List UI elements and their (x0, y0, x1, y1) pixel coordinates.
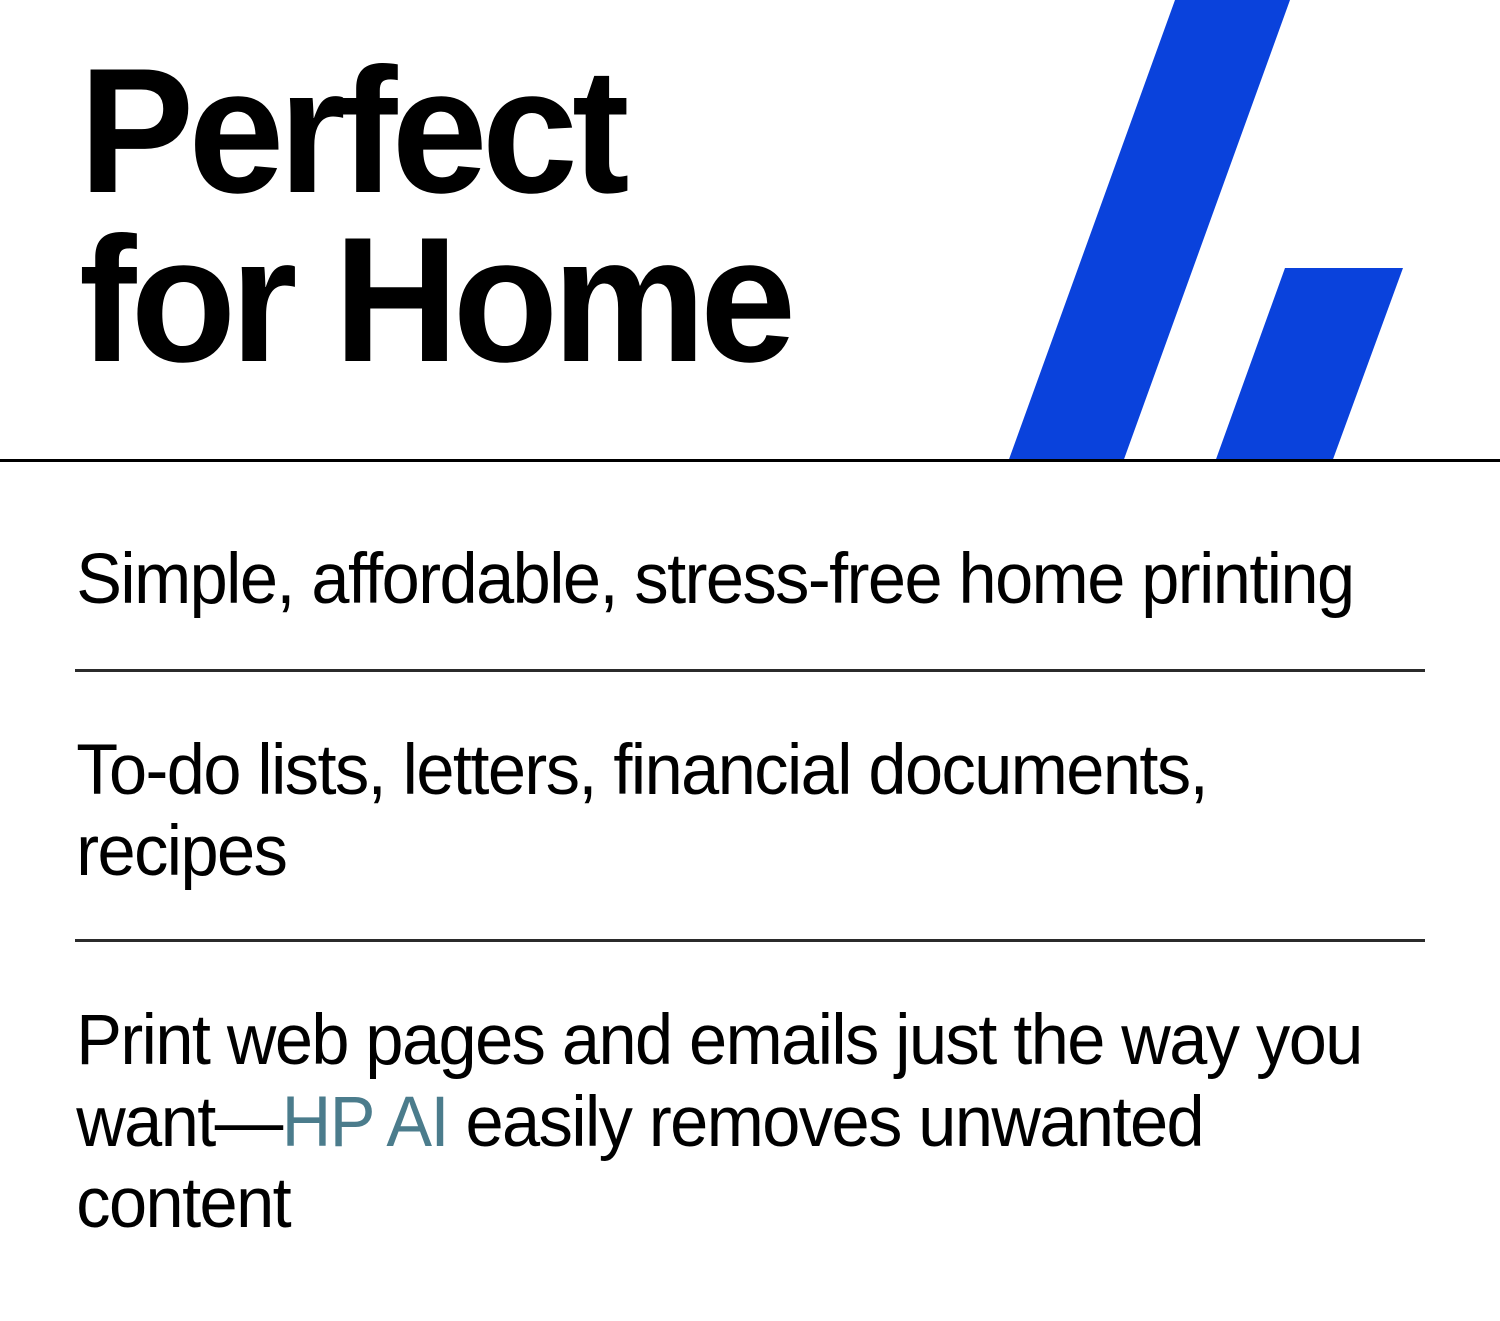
feature-document-types-text: To-do lists, letters, financial document… (0, 672, 1448, 893)
feature-list: Simple, affordable, stress-free home pri… (0, 464, 1500, 1245)
list-item: Print web pages and emails just the way … (0, 942, 1500, 1245)
hp-h-logo-icon (980, 0, 1500, 462)
feature-ai-content-removal-text: Print web pages and emails just the way … (0, 942, 1448, 1245)
list-item: Simple, affordable, stress-free home pri… (0, 464, 1500, 621)
list-item: To-do lists, letters, financial document… (0, 672, 1500, 893)
page-title: Perfect for Home (79, 46, 790, 384)
perfect-for-home-card: Perfect for Home Simple, affordable, str… (0, 0, 1500, 1321)
feature-simple-printing-text: Simple, affordable, stress-free home pri… (0, 464, 1448, 621)
header-divider (0, 459, 1500, 462)
card-header: Perfect for Home (0, 0, 1500, 462)
hp-ai-highlight: HP AI (282, 1083, 448, 1162)
